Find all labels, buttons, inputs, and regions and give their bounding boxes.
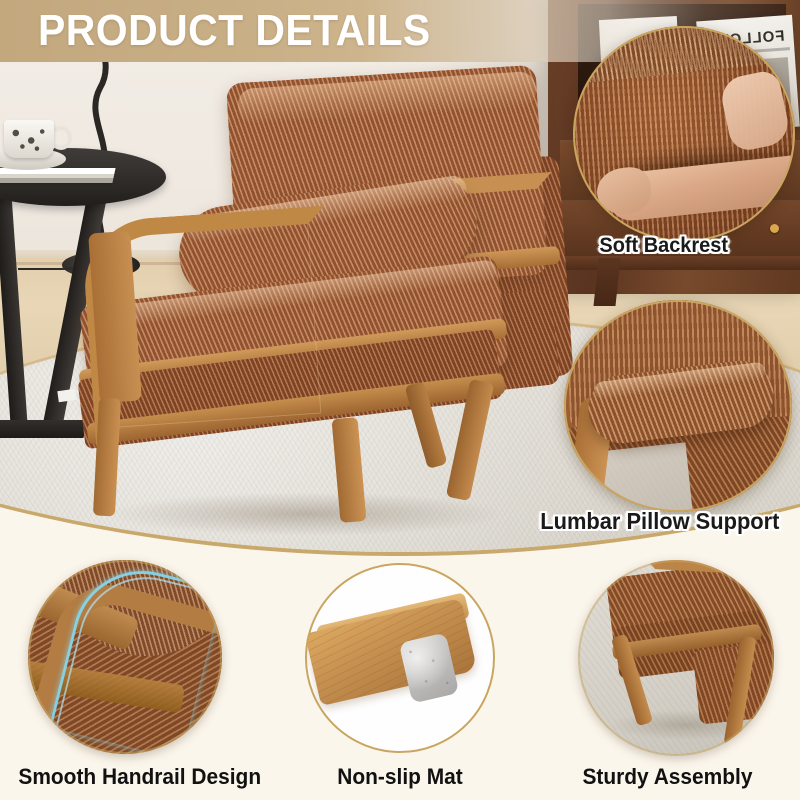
chair-floor-shadow xyxy=(106,492,506,536)
caption-lumbar-pillow-support: Lumbar Pillow Support xyxy=(540,508,779,535)
page-title: PRODUCT DETAILS xyxy=(38,6,431,56)
inset-soft-backrest xyxy=(573,26,795,242)
inset-sturdy-assembly xyxy=(578,560,774,756)
inset-smooth-handrail xyxy=(28,560,222,754)
caption-smooth-handrail-design: Smooth Handrail Design xyxy=(18,764,261,790)
infographic-canvas: FOLLOW xyxy=(0,0,800,800)
caption-sturdy-assembly: Sturdy Assembly xyxy=(582,764,752,790)
accent-chair xyxy=(86,62,556,522)
side-table-foot xyxy=(0,420,89,438)
inset-lumbar-pillow xyxy=(564,300,792,512)
caption-soft-backrest: Soft Backrest xyxy=(599,234,728,258)
caption-non-slip-mat: Non-slip Mat xyxy=(337,764,462,790)
assembly-curved-arm xyxy=(631,560,774,753)
cabinet-base-rail xyxy=(560,256,800,270)
mug-pattern xyxy=(7,124,51,154)
chair-leg-front-left xyxy=(93,398,121,517)
inset-non-slip-mat xyxy=(305,563,495,753)
